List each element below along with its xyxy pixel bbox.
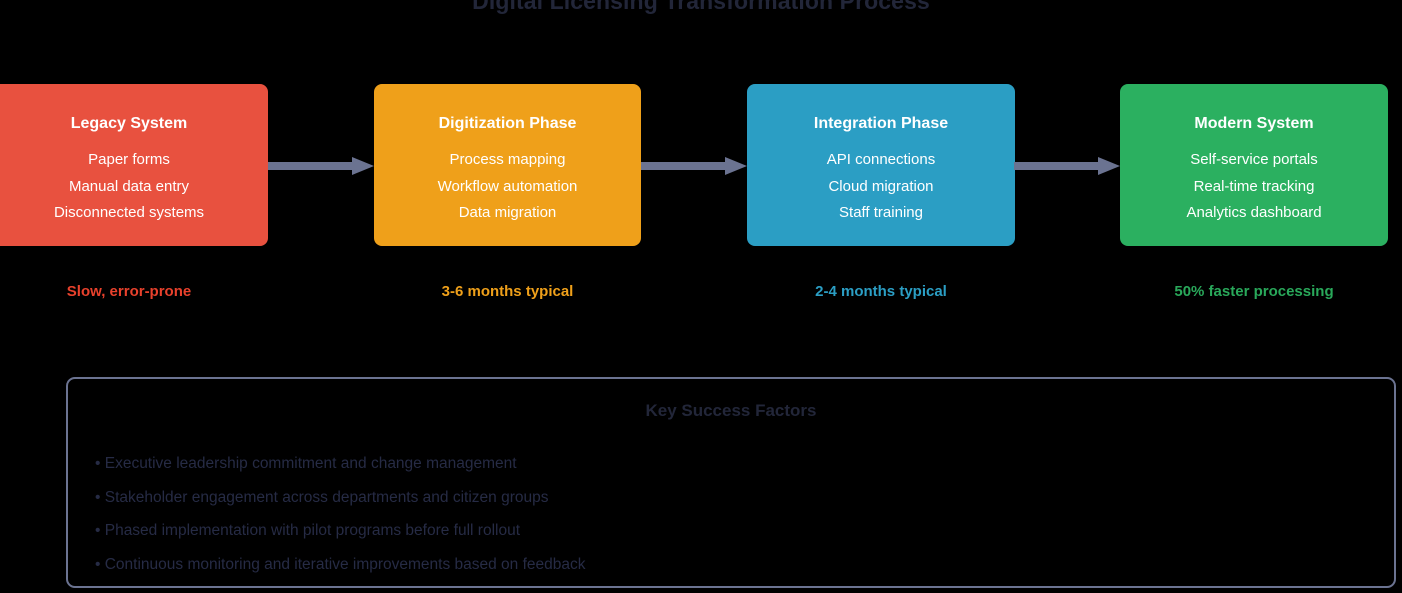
stage-item: Manual data entry — [0, 174, 268, 201]
stage-title: Modern System — [1120, 114, 1388, 134]
factors-heading: Key Success Factors — [68, 401, 1394, 421]
stage-item-list: Process mapping Workflow automation Data… — [374, 147, 641, 227]
stage-item-list: Paper forms Manual data entry Disconnect… — [0, 147, 268, 227]
stage-box-integration-phase[interactable]: Integration Phase API connections Cloud … — [747, 84, 1015, 246]
key-success-factors-panel: Key Success Factors • Executive leadersh… — [66, 377, 1396, 588]
stage-title: Digitization Phase — [374, 114, 641, 134]
stage-item-list: API connections Cloud migration Staff tr… — [747, 147, 1015, 227]
stage-caption-integration-phase: 2-4 months typical — [747, 281, 1015, 302]
stage-caption-legacy-system: Slow, error-prone — [0, 281, 268, 302]
arrow-connector-3 — [1014, 157, 1120, 175]
stage-box-legacy-system[interactable]: Legacy System Paper forms Manual data en… — [0, 84, 268, 246]
stage-item: Analytics dashboard — [1120, 200, 1388, 227]
arrow-head-icon — [352, 157, 374, 175]
arrow-line — [641, 162, 725, 170]
stage-item: Paper forms — [0, 147, 268, 174]
diagram-canvas: Digital Licensing Transformation Process… — [0, 0, 1402, 593]
arrow-line — [1014, 162, 1098, 170]
arrow-connector-2 — [641, 157, 747, 175]
stage-title: Integration Phase — [747, 114, 1015, 134]
page-title: Digital Licensing Transformation Process — [0, 0, 1402, 15]
list-item: • Stakeholder engagement across departme… — [95, 481, 1384, 515]
stage-item: Real-time tracking — [1120, 174, 1388, 201]
factors-list: • Executive leadership commitment and ch… — [95, 447, 1384, 581]
stage-caption-modern-system: 50% faster processing — [1120, 281, 1388, 302]
arrow-head-icon — [1098, 157, 1120, 175]
list-item: • Executive leadership commitment and ch… — [95, 447, 1384, 481]
stage-box-modern-system[interactable]: Modern System Self-service portals Real-… — [1120, 84, 1388, 246]
list-item: • Continuous monitoring and iterative im… — [95, 548, 1384, 582]
stage-item: Data migration — [374, 200, 641, 227]
arrow-head-icon — [725, 157, 747, 175]
stage-item: Cloud migration — [747, 174, 1015, 201]
list-item: • Phased implementation with pilot progr… — [95, 514, 1384, 548]
stage-item-list: Self-service portals Real-time tracking … — [1120, 147, 1388, 227]
stage-item: API connections — [747, 147, 1015, 174]
stage-item: Process mapping — [374, 147, 641, 174]
stage-item: Workflow automation — [374, 174, 641, 201]
stage-item: Staff training — [747, 200, 1015, 227]
stage-box-digitization-phase[interactable]: Digitization Phase Process mapping Workf… — [374, 84, 641, 246]
stage-title: Legacy System — [0, 114, 268, 134]
arrow-line — [268, 162, 352, 170]
stage-item: Disconnected systems — [0, 200, 268, 227]
stage-caption-digitization-phase: 3-6 months typical — [374, 281, 641, 302]
stage-item: Self-service portals — [1120, 147, 1388, 174]
arrow-connector-1 — [268, 157, 374, 175]
